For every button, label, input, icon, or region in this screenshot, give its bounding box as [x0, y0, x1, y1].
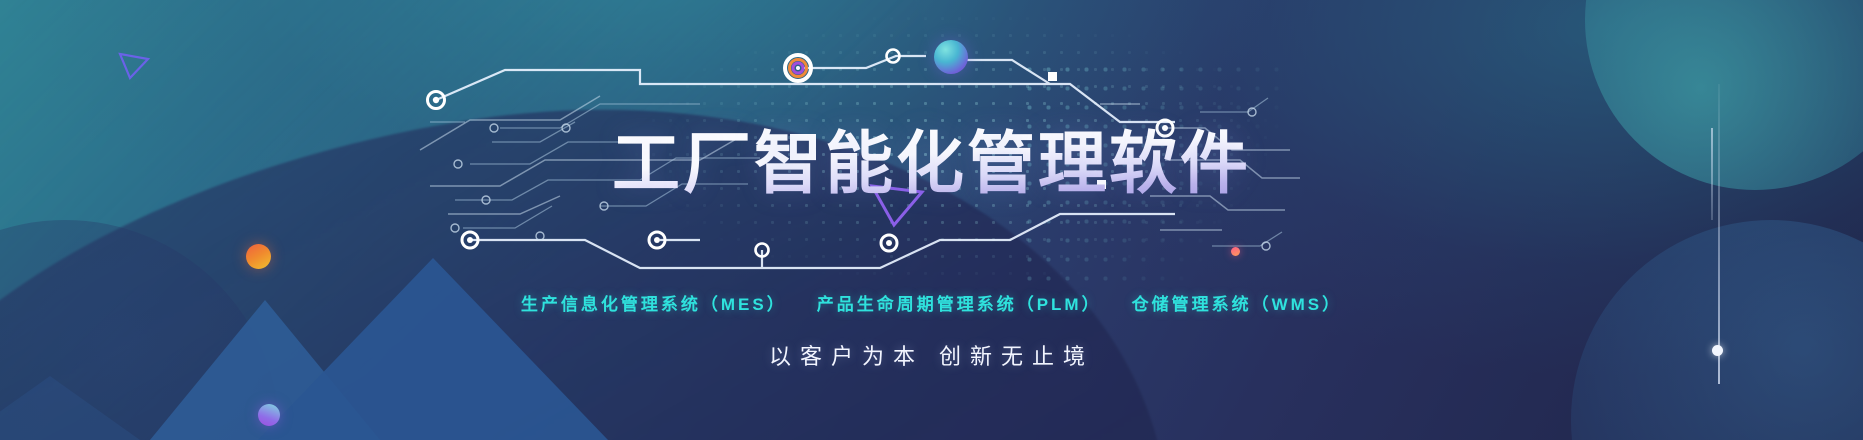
product-item-plm: 产品生命周期管理系统（PLM） — [817, 290, 1102, 315]
banner-tagline: 以客户为本 创新无止境 — [769, 339, 1094, 371]
product-list: 生产信息化管理系统（MES） 产品生命周期管理系统（PLM） 仓储管理系统（WM… — [521, 290, 1342, 315]
product-item-wms: 仓储管理系统（WMS） — [1132, 290, 1343, 315]
banner-title: 工厂智能化管理软件 — [612, 128, 1251, 200]
product-item-mes: 生产信息化管理系统（MES） — [521, 290, 787, 315]
banner-content: 工厂智能化管理软件 生产信息化管理系统（MES） 产品生命周期管理系统（PLM）… — [0, 0, 1863, 440]
hero-banner: 工厂智能化管理软件 生产信息化管理系统（MES） 产品生命周期管理系统（PLM）… — [0, 0, 1863, 440]
